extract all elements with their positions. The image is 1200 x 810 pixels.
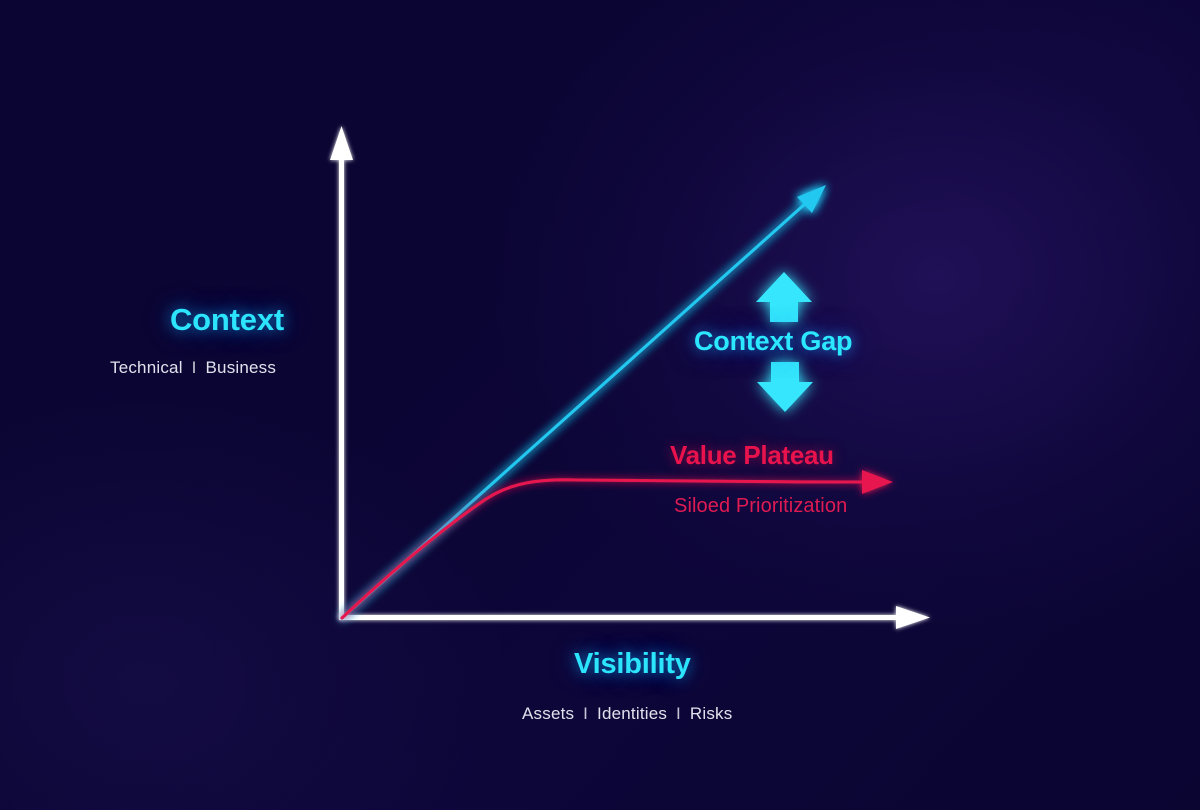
arrow-up-icon — [756, 272, 812, 322]
arrow-down-icon — [757, 362, 813, 412]
chart-plot-area — [0, 0, 1200, 810]
siloed-prioritization-annotation: Siloed Prioritization — [674, 495, 847, 518]
x-axis-sublabel-part-1: Identities — [597, 704, 667, 723]
x-axis-sublabel: Assets I Identities I Risks — [522, 704, 732, 724]
series-siloed-prioritization-curve — [342, 470, 893, 618]
value-plateau-annotation: Value Plateau — [670, 440, 834, 471]
x-axis-sublabel-separator-0: I — [579, 704, 592, 723]
y-axis-sublabel: Technical I Business — [110, 358, 276, 378]
x-axis — [339, 606, 930, 629]
chart-canvas: Context Technical I Business Visibility … — [0, 0, 1200, 810]
y-axis-sublabel-part-0: Technical — [110, 358, 183, 377]
y-axis-sublabel-separator-0: I — [188, 358, 201, 377]
x-axis-sublabel-part-0: Assets — [522, 704, 574, 723]
context-gap-annotation: Context Gap — [694, 326, 852, 357]
y-axis — [330, 126, 353, 619]
x-axis-sublabel-separator-1: I — [672, 704, 685, 723]
x-axis-title: Visibility — [574, 648, 691, 681]
y-axis-sublabel-part-1: Business — [206, 358, 277, 377]
y-axis-title: Context — [170, 302, 284, 338]
x-axis-sublabel-part-2: Risks — [690, 704, 733, 723]
